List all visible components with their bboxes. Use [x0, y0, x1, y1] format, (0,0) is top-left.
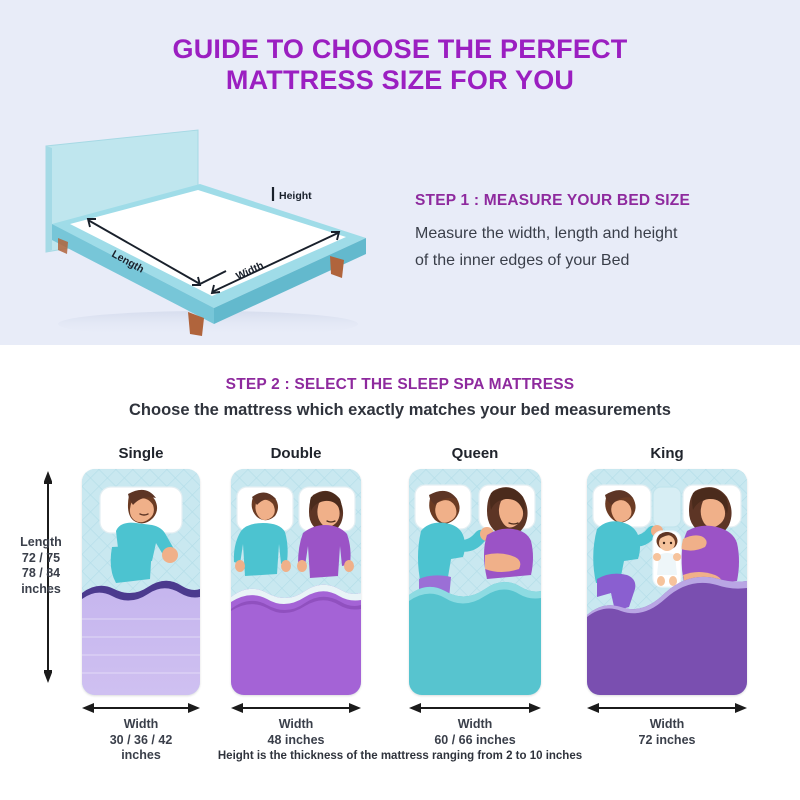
- bed-height-label: Height: [279, 190, 312, 202]
- mattress-title-king: King: [587, 445, 747, 462]
- step-1-body: Measure the width, length and height of …: [415, 220, 775, 274]
- width-label-single: Width: [70, 717, 212, 733]
- width-value-double: 48 inches: [219, 733, 373, 749]
- width-value-king: 72 inches: [587, 733, 747, 749]
- mattress-title-single: Single: [82, 445, 200, 462]
- page-title-line2: MATTRESS SIZE FOR YOU: [0, 65, 800, 96]
- step-1-body-line2: of the inner edges of your Bed: [415, 247, 775, 274]
- mattress-cards-row: Single: [0, 445, 800, 745]
- step-1-heading: STEP 1 : MEASURE YOUR BED SIZE: [415, 192, 775, 210]
- footnote-text: Height is the thickness of the mattress …: [0, 750, 800, 762]
- mattress-illustration-double: [231, 469, 361, 695]
- width-caption-double: Width 48 inches: [219, 717, 373, 748]
- bottom-section: STEP 2 : SELECT THE SLEEP SPA MATTRESS C…: [0, 345, 800, 800]
- width-label-king: Width: [587, 717, 747, 733]
- width-label-queen: Width: [395, 717, 555, 733]
- infographic-page: GUIDE TO CHOOSE THE PERFECT MATTRESS SIZ…: [0, 0, 800, 800]
- width-gauge-king: [587, 703, 747, 713]
- mattress-title-double: Double: [231, 445, 361, 462]
- mattress-title-queen: Queen: [409, 445, 541, 462]
- width-gauge-double: [231, 703, 361, 713]
- width-gauge-single: [82, 703, 200, 713]
- width-value-single: 30 / 36 / 42: [70, 733, 212, 749]
- width-caption-queen: Width 60 / 66 inches: [395, 717, 555, 748]
- step-2-heading: STEP 2 : SELECT THE SLEEP SPA MATTRESS: [0, 376, 800, 394]
- mattress-illustration-single: [82, 469, 200, 695]
- page-title: GUIDE TO CHOOSE THE PERFECT MATTRESS SIZ…: [0, 34, 800, 96]
- bed-diagram-svg: Height Length Width: [28, 128, 378, 338]
- width-value-queen: 60 / 66 inches: [395, 733, 555, 749]
- width-label-double: Width: [219, 717, 373, 733]
- top-section: GUIDE TO CHOOSE THE PERFECT MATTRESS SIZ…: [0, 0, 800, 345]
- page-title-line1: GUIDE TO CHOOSE THE PERFECT: [0, 34, 800, 65]
- step-2-subheading: Choose the mattress which exactly matche…: [0, 401, 800, 420]
- bed-illustration: Height Length Width: [28, 128, 378, 338]
- width-gauge-queen: [409, 703, 541, 713]
- mattress-illustration-king: [587, 469, 747, 695]
- width-caption-king: Width 72 inches: [587, 717, 747, 748]
- step-1-body-line1: Measure the width, length and height: [415, 220, 775, 247]
- mattress-illustration-queen: [409, 469, 541, 695]
- step-1-block: STEP 1 : MEASURE YOUR BED SIZE Measure t…: [415, 192, 775, 274]
